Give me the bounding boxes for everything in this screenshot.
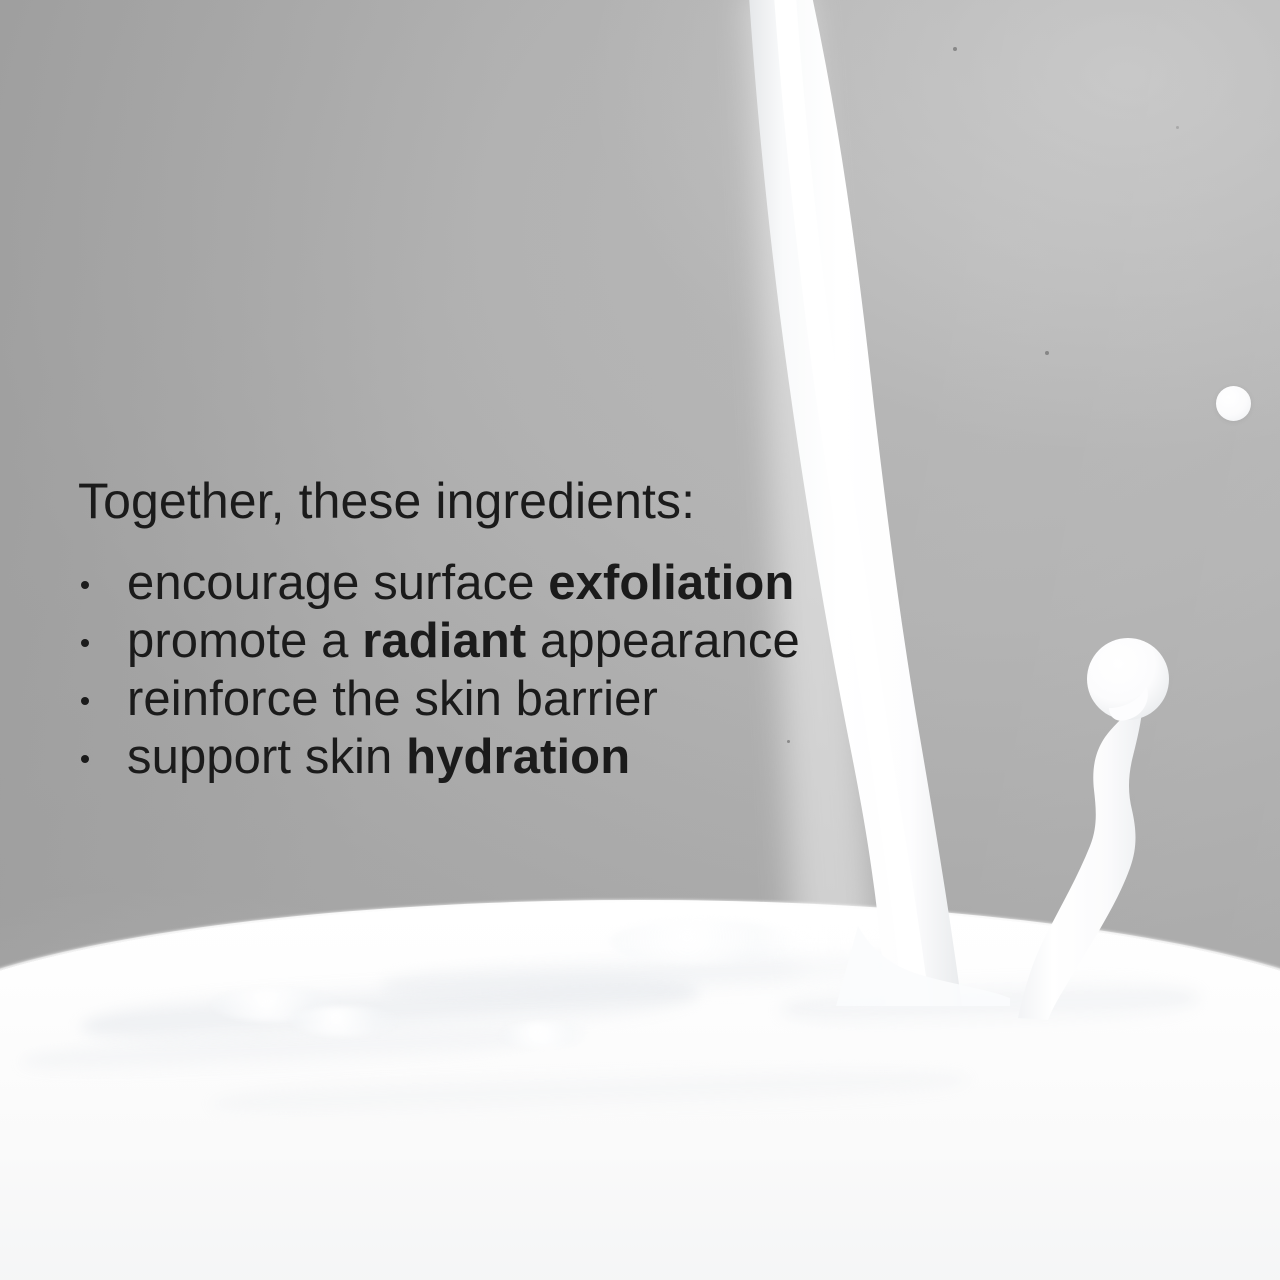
benefit-list: encourage surface exfoliation promote a … bbox=[78, 554, 978, 786]
benefit-text-prefix: reinforce the skin barrier bbox=[127, 672, 658, 726]
speck-icon bbox=[1045, 351, 1049, 355]
pool-foam bbox=[500, 1022, 590, 1048]
copy-block: Together, these ingredients: encourage s… bbox=[78, 474, 978, 786]
speck-icon bbox=[1176, 126, 1179, 129]
floating-milk-droplet bbox=[1216, 386, 1251, 421]
pool-foam bbox=[290, 1006, 400, 1036]
benefit-item: support skin hydration bbox=[78, 728, 978, 786]
benefit-item: reinforce the skin barrier bbox=[78, 670, 978, 728]
benefit-text-emphasis: radiant bbox=[362, 614, 526, 668]
benefit-item: encourage surface exfoliation bbox=[78, 554, 978, 612]
bullet-icon bbox=[81, 581, 89, 589]
headline: Together, these ingredients: bbox=[78, 474, 978, 528]
speck-icon bbox=[953, 47, 957, 51]
benefit-text-emphasis: hydration bbox=[406, 730, 630, 784]
benefit-text-prefix: encourage surface bbox=[127, 556, 548, 610]
benefit-text-emphasis: exfoliation bbox=[548, 556, 794, 610]
bullet-icon bbox=[81, 639, 89, 647]
bullet-icon bbox=[81, 755, 89, 763]
benefit-text-prefix: support skin bbox=[127, 730, 406, 784]
slide-canvas: Together, these ingredients: encourage s… bbox=[0, 0, 1280, 1280]
bullet-icon bbox=[81, 697, 89, 705]
benefit-text-prefix: promote a bbox=[127, 614, 362, 668]
benefit-text-suffix: appearance bbox=[526, 614, 800, 668]
benefit-item: promote a radiant appearance bbox=[78, 612, 978, 670]
